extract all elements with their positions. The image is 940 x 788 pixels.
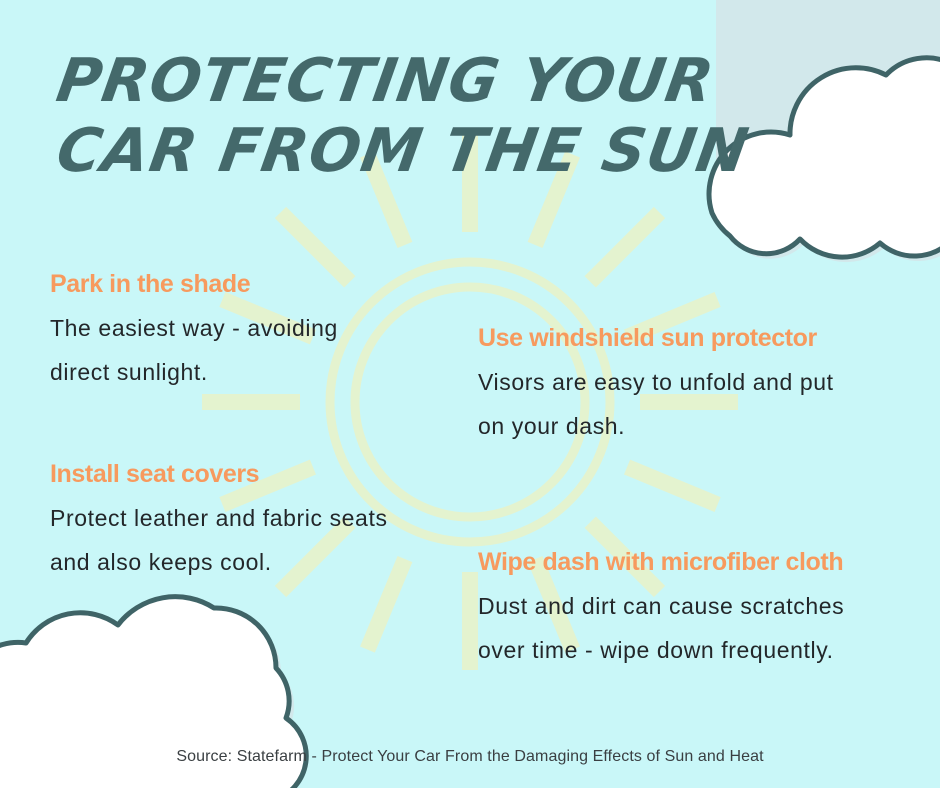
tip-body: The easiest way - avoiding direct sunlig… bbox=[50, 306, 338, 394]
tip-body-line: The easiest way - avoiding bbox=[50, 306, 338, 350]
sun-ray bbox=[627, 467, 718, 505]
page-title: Protecting Your Car From the Sun bbox=[52, 46, 692, 186]
tip-heading: Install seat covers bbox=[50, 458, 388, 490]
tip-body-line: and also keeps cool. bbox=[50, 540, 388, 584]
tip-body-line: direct sunlight. bbox=[50, 350, 338, 394]
tip-body: Protect leather and fabric seats and als… bbox=[50, 496, 388, 584]
tip-wipe-dash-with-microfiber-cloth: Wipe dash with microfiber cloth Dust and… bbox=[478, 546, 844, 672]
tip-body-line: over time - wipe down frequently. bbox=[478, 628, 844, 672]
tip-heading: Wipe dash with microfiber cloth bbox=[478, 546, 844, 578]
title-line-1: Protecting Your bbox=[52, 46, 703, 116]
tip-body-line: Dust and dirt can cause scratches bbox=[478, 584, 844, 628]
tip-use-windshield-sun-protector: Use windshield sun protector Visors are … bbox=[478, 322, 834, 448]
tip-body-line: Visors are easy to unfold and put bbox=[478, 360, 834, 404]
tip-install-seat-covers: Install seat covers Protect leather and … bbox=[50, 458, 388, 584]
tip-body: Visors are easy to unfold and put on you… bbox=[478, 360, 834, 448]
sun-ray bbox=[590, 212, 659, 281]
source-attribution: Source: Statefarm - Protect Your Car Fro… bbox=[0, 748, 940, 766]
title-line-2: Car From the Sun bbox=[52, 116, 703, 186]
tip-park-in-the-shade: Park in the shade The easiest way - avoi… bbox=[50, 268, 338, 394]
tip-heading: Park in the shade bbox=[50, 268, 338, 300]
tip-body-line: on your dash. bbox=[478, 404, 834, 448]
tip-body: Dust and dirt can cause scratches over t… bbox=[478, 584, 844, 672]
infographic-poster: Protecting Your Car From the Sun Park in… bbox=[0, 0, 940, 788]
tip-body-line: Protect leather and fabric seats bbox=[50, 496, 388, 540]
tip-heading: Use windshield sun protector bbox=[478, 322, 834, 354]
